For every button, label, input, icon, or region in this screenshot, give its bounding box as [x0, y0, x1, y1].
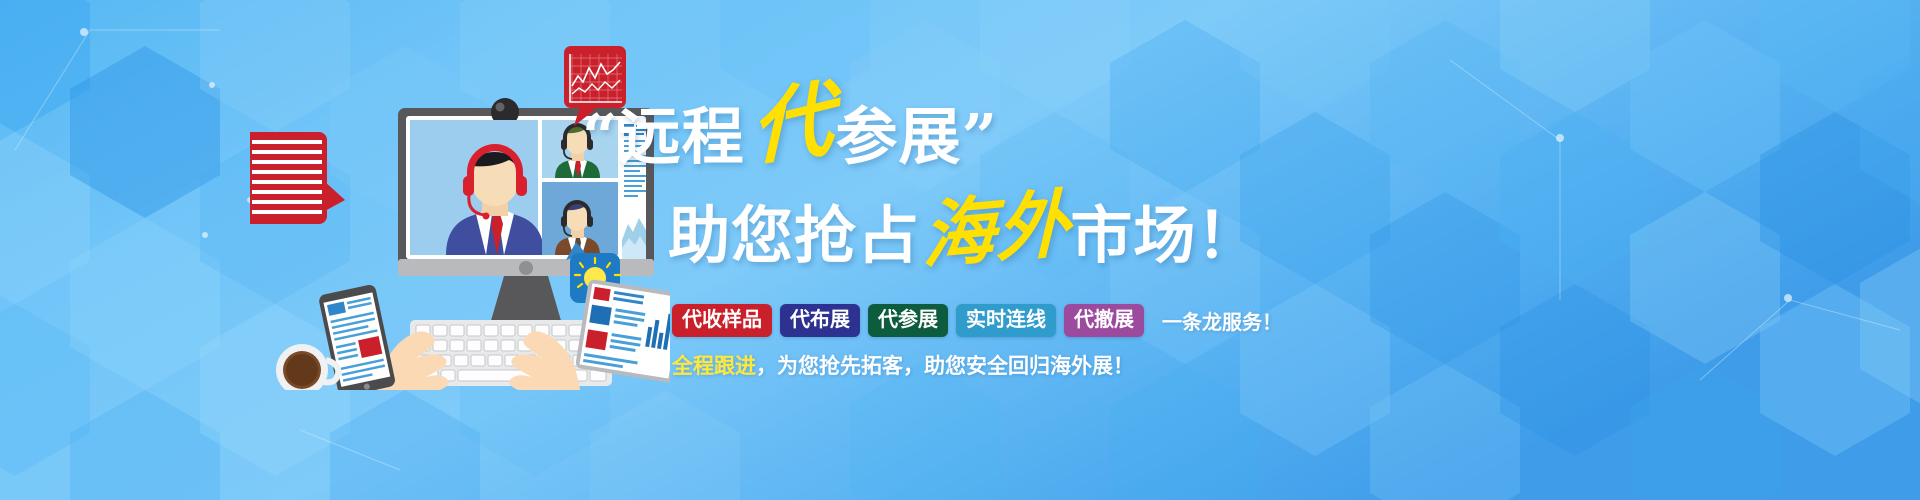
headline-line1-part2: 参展 — [836, 100, 962, 173]
banner-tagline: 全程跟进，为您抢先拓客，助您安全回归海外展！ — [672, 350, 1134, 380]
headline-line2-part1: 助您抢占 — [668, 199, 920, 272]
close-quote: ” — [962, 100, 999, 173]
one-stop-service-label: 一条龙服务！ — [1162, 306, 1282, 335]
banner-text-block: “远程代参展” 助您抢占海外市场！ 代收样品 代布展 代参展 实时连线 代撤展 … — [560, 62, 1240, 402]
headline-line-2: 助您抢占海外市场！ — [668, 196, 1259, 269]
coffee-cup — [276, 344, 338, 390]
badge-dai-che-zhan[interactable]: 代撤展 — [1064, 304, 1144, 337]
headline-line2-part2: 市场！ — [1070, 199, 1259, 272]
headline-line1-part1: 远程 — [619, 100, 745, 173]
badge-shi-shi-lian-xian[interactable]: 实时连线 — [956, 304, 1056, 337]
headline-brush-dai: 代 — [750, 79, 834, 171]
open-quote: “ — [582, 100, 619, 173]
tagline-highlight: 全程跟进 — [672, 354, 756, 378]
badge-dai-bu-zhan[interactable]: 代布展 — [780, 304, 860, 337]
badge-dai-can-zhan[interactable]: 代参展 — [868, 304, 948, 337]
headline-brush-haiwai: 海外 — [922, 187, 1070, 273]
headline-line-1: “远程代参展” — [582, 90, 998, 172]
badge-dai-shou-yang-pin[interactable]: 代收样品 — [672, 304, 772, 337]
tagline-rest: ，为您抢先拓客，助您安全回归海外展！ — [756, 354, 1134, 378]
promo-banner: “远程代参展” 助您抢占海外市场！ 代收样品 代布展 代参展 实时连线 代撤展 … — [0, 0, 1920, 500]
service-badge-list: 代收样品 代布展 代参展 实时连线 代撤展 一条龙服务！ — [672, 304, 1282, 337]
smartphone-document — [318, 284, 396, 390]
text-lines-speech-bubble — [250, 132, 345, 224]
